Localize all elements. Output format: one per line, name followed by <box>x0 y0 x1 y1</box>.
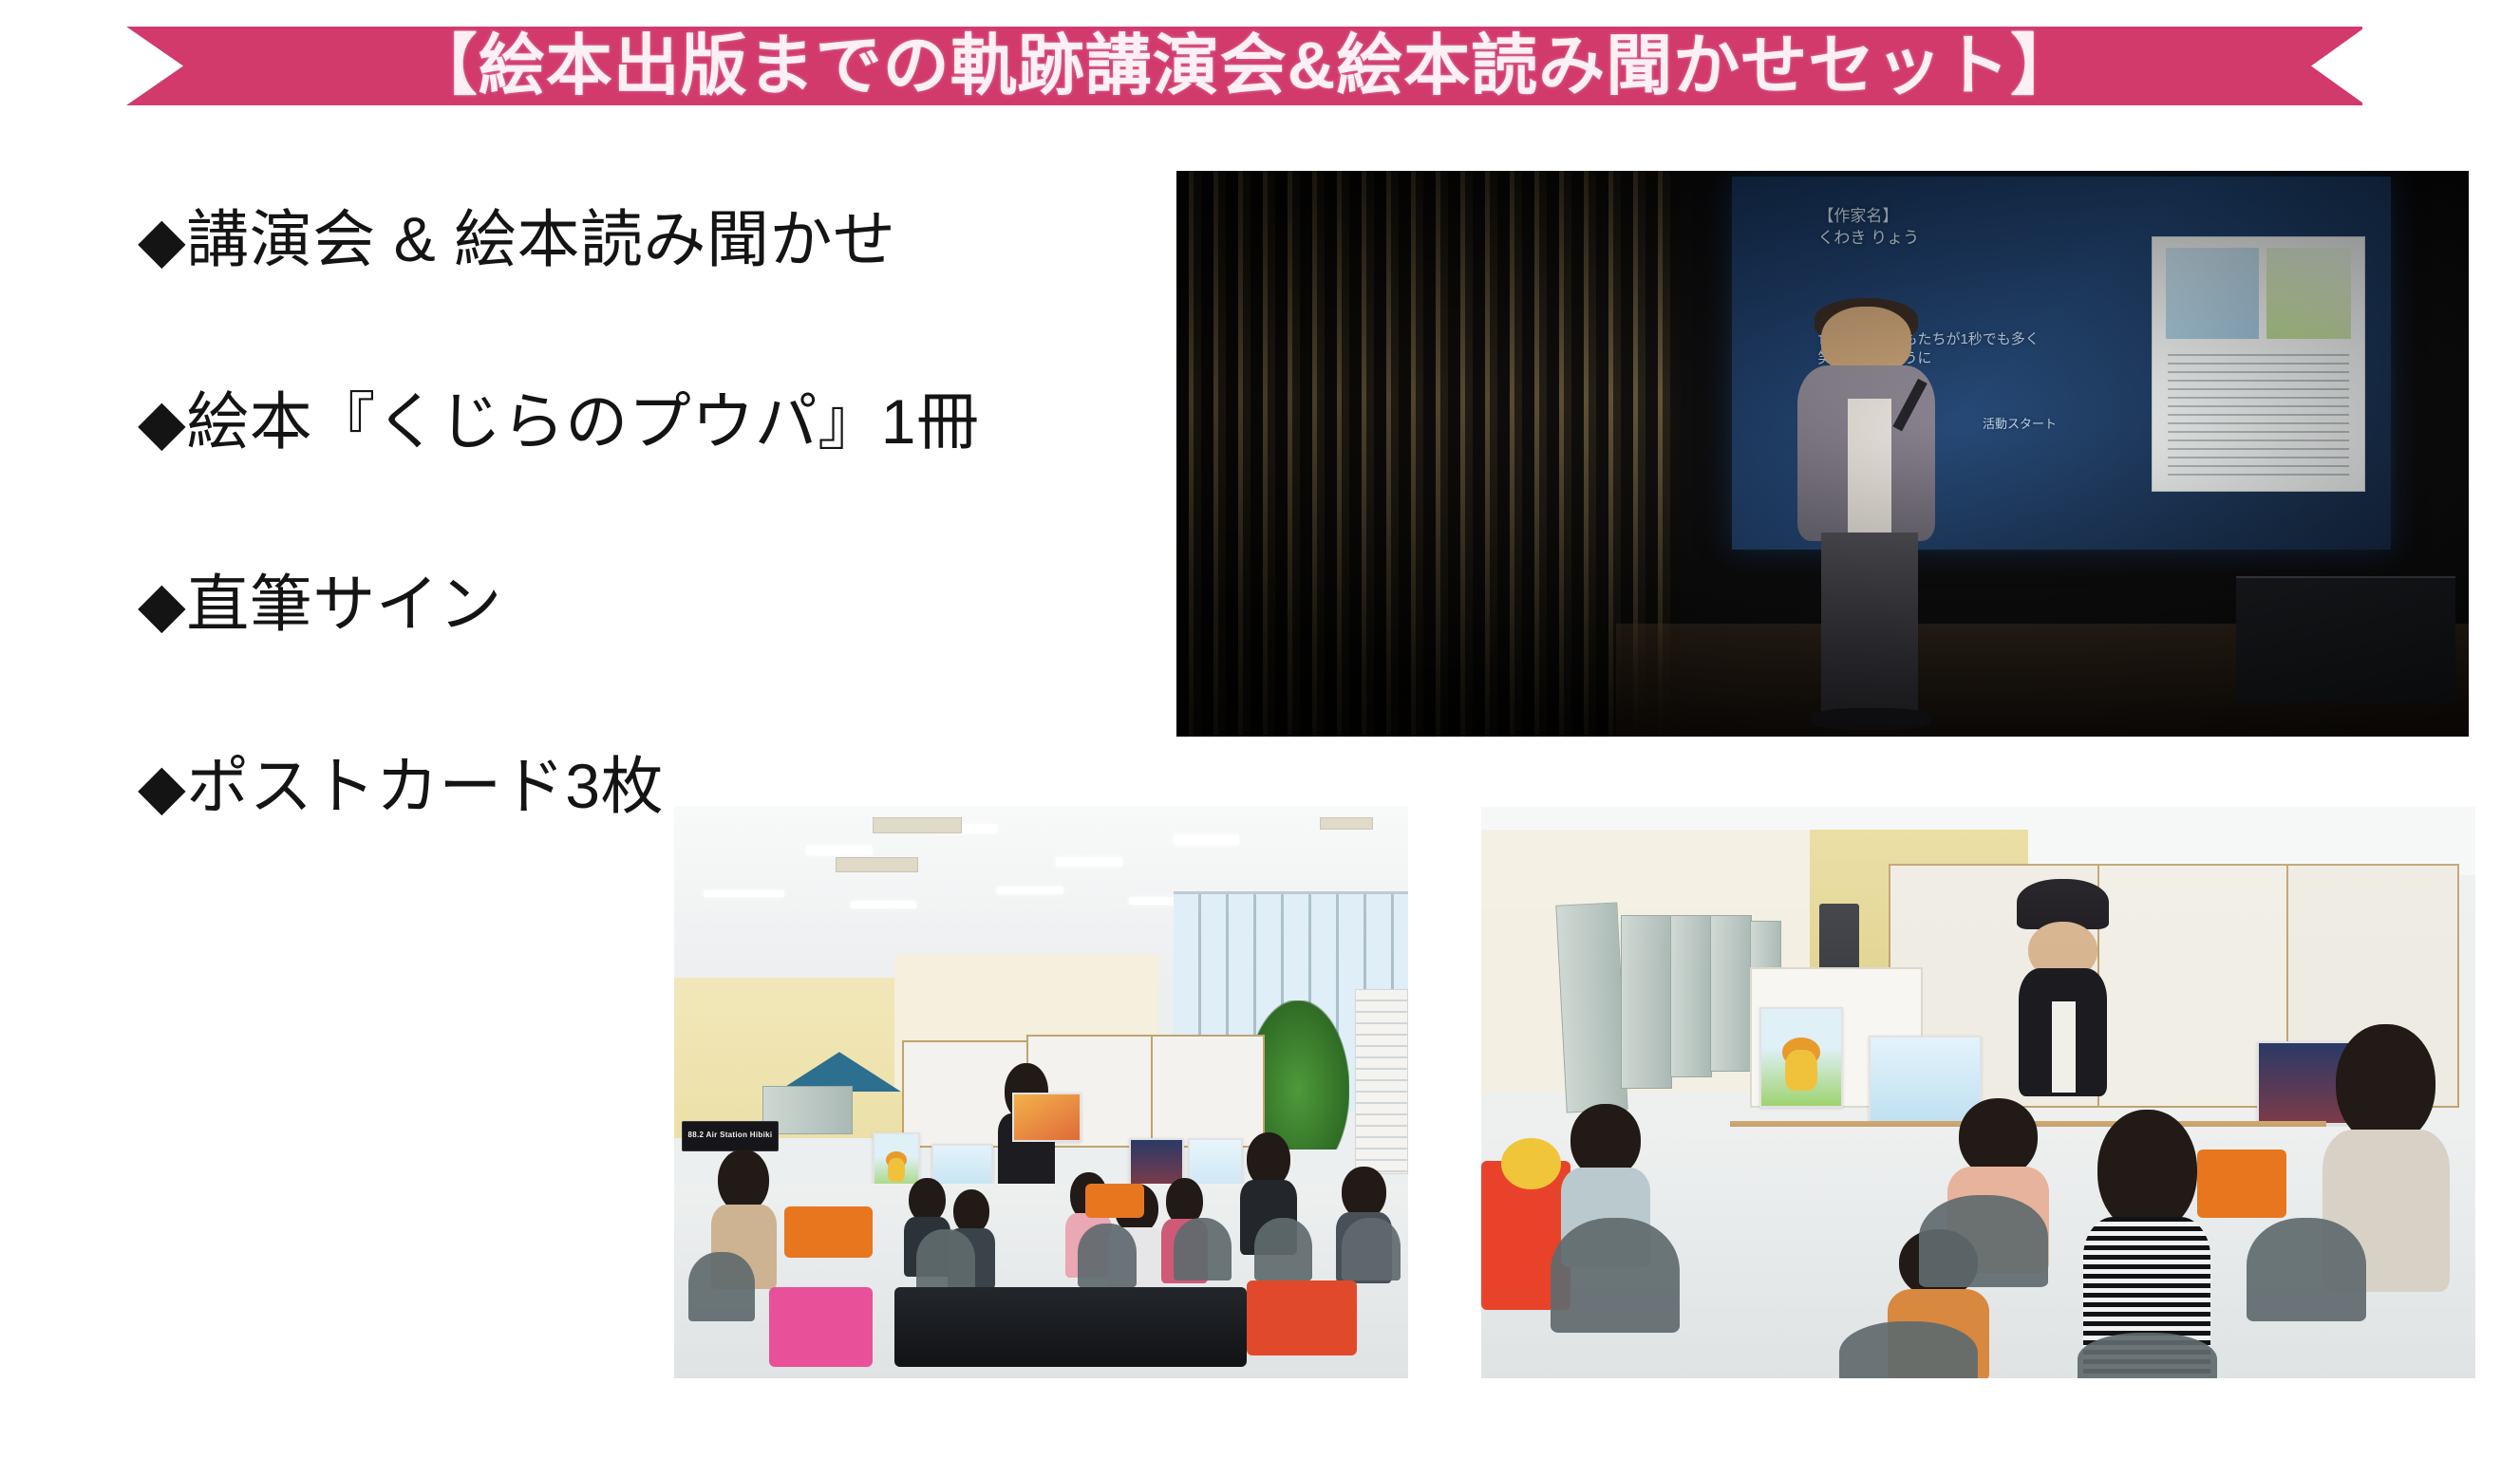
lion-body <box>888 1158 906 1182</box>
poster-board <box>1355 989 1408 1174</box>
book-cover-thumb-2 <box>2266 248 2351 339</box>
ceiling-light <box>1056 857 1122 867</box>
slide-book-card <box>2152 236 2364 492</box>
page-title: 【絵本出版までの軌跡講演会&絵本読み聞かせセット】 <box>126 27 2362 105</box>
ceiling-light <box>997 887 1063 894</box>
stroller <box>1085 1184 1144 1218</box>
head <box>1247 1132 1290 1187</box>
bench-sofa <box>894 1287 1247 1367</box>
photo-reading-library: 88.2 Air Station Hibiki <box>674 806 1408 1378</box>
grand-piano <box>2236 576 2455 702</box>
slide-author-name: くわき りょう <box>1817 229 1919 247</box>
poster-page: 【絵本出版までの軌跡講演会&絵本読み聞かせセット】 ◆講演会 & 絵本読み聞かせ… <box>0 0 2520 1458</box>
slide-author-block: 【作家名】くわき りょう <box>1817 206 1919 250</box>
chair <box>688 1252 755 1320</box>
slide-author-label: 【作家名】 <box>1817 207 1898 225</box>
book-cover-thumb <box>2166 248 2259 339</box>
list-item: ◆直筆サイン <box>138 569 1106 641</box>
head <box>1959 1098 2039 1177</box>
chair <box>2078 1333 2217 1378</box>
leaning-canvas <box>1670 915 1712 1077</box>
chair <box>2247 1218 2366 1320</box>
ceiling-light <box>806 846 873 855</box>
presenter-shirt <box>2052 1001 2076 1093</box>
radio-station-banner: 88.2 Air Station Hibiki <box>682 1121 779 1151</box>
leaning-canvas <box>1710 915 1752 1072</box>
stroller <box>784 1206 873 1258</box>
list-item: ◆絵本『くじらのプウパ』1冊 <box>138 386 1106 458</box>
speaker-figure <box>1784 307 1952 725</box>
chair <box>1254 1218 1313 1280</box>
head <box>2097 1110 2197 1233</box>
ceiling-light <box>704 890 784 898</box>
feature-list: ◆講演会 & 絵本読み聞かせ ◆絵本『くじらのプウパ』1冊 ◆直筆サイン ◆ポス… <box>138 204 1106 823</box>
picture-book-held <box>1012 1093 1082 1142</box>
slide-note: 活動スタート <box>1983 416 2057 433</box>
chair <box>1342 1218 1401 1280</box>
speaker-trousers <box>1821 533 1919 717</box>
chair <box>916 1229 975 1292</box>
photo-reading-hall <box>1481 807 2475 1378</box>
head <box>1342 1167 1385 1219</box>
ceiling-vent <box>1320 817 1373 831</box>
ceiling-light <box>1174 835 1240 845</box>
whiteboard-panel <box>1151 1035 1265 1148</box>
head <box>718 1150 769 1213</box>
chair <box>1551 1218 1680 1332</box>
ceiling-vent <box>873 817 963 833</box>
slide-text-lines <box>2168 354 2349 481</box>
leaning-canvas <box>1621 915 1672 1089</box>
chair <box>1174 1218 1232 1280</box>
stroller <box>2197 1150 2286 1218</box>
toy-ring <box>1501 1138 1561 1189</box>
stroller <box>1247 1280 1357 1355</box>
head <box>2336 1024 2435 1145</box>
chair <box>1839 1321 1979 1378</box>
leaning-canvas <box>1555 903 1627 1113</box>
photo-lecture-stage: 【作家名】くわき りょう 【目標】世界中の子どもたちが1秒でも多く 笑顔になるよ… <box>1176 171 2469 737</box>
head <box>1570 1104 1640 1178</box>
speaker-head <box>1821 307 1912 374</box>
ceiling-vent <box>836 857 918 872</box>
chair <box>1078 1224 1137 1286</box>
speaker-shoes <box>1811 708 1931 729</box>
ceiling-light <box>851 901 917 908</box>
chair <box>1919 1195 2048 1286</box>
lion-body <box>1785 1050 1817 1091</box>
wood-slat-wall <box>1176 171 1681 737</box>
stroller <box>769 1287 872 1367</box>
list-item: ◆講演会 & 絵本読み聞かせ <box>138 204 1106 276</box>
artwork-lion <box>1759 1007 1843 1108</box>
